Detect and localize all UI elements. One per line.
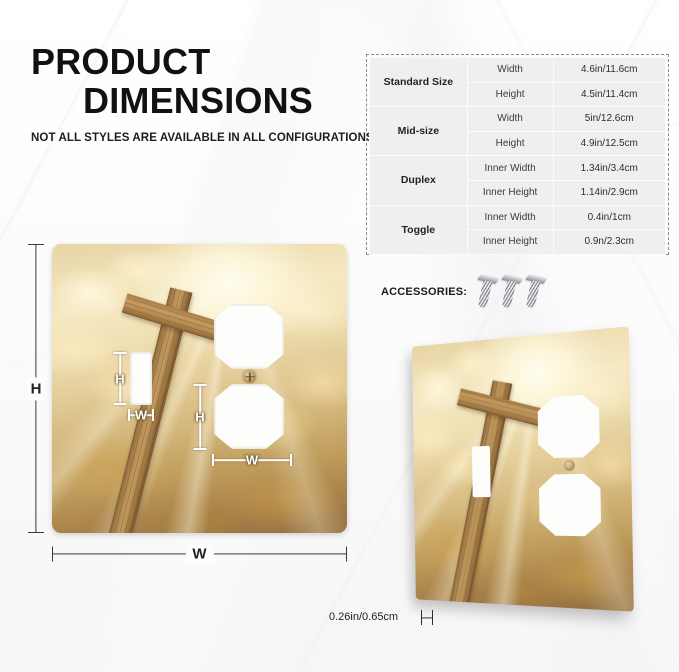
spec-value: 4.6in/11.6cm: [553, 58, 666, 83]
accessories-section: ACCESSORIES:: [381, 272, 545, 312]
spec-dim: Height: [467, 131, 553, 156]
duplex-height-label: H: [193, 408, 206, 427]
overall-height-marker: H: [27, 244, 45, 533]
spec-value: 1.14in/2.9cm: [553, 180, 666, 205]
overall-height-label: H: [29, 377, 44, 400]
spec-dim: Inner Width: [467, 156, 553, 181]
spec-label-midsize: Mid-size: [370, 107, 468, 156]
toggle-width-label: W: [131, 408, 151, 423]
toggle-width-marker: W: [128, 407, 154, 423]
toggle-height-label: H: [113, 369, 126, 388]
spec-label-toggle: Toggle: [370, 205, 468, 254]
page-title: PRODUCT DIMENSIONS NOT ALL STYLES ARE AV…: [31, 43, 374, 144]
spec-dim: Inner Width: [467, 205, 553, 230]
center-screw-hole: [243, 370, 256, 383]
thickness-label: 0.26in/0.65cm: [329, 611, 398, 623]
duplex-opening-top: [214, 304, 284, 369]
thickness-marker: [421, 610, 433, 625]
spec-table: Standard Size Width 4.6in/11.6cm Height …: [366, 54, 669, 255]
spec-label-standard: Standard Size: [370, 58, 468, 107]
accessories-label: ACCESSORIES:: [381, 286, 467, 298]
duplex-height-marker: H: [192, 384, 208, 450]
product-image-front: H W H W: [52, 244, 347, 533]
spec-table-body: Standard Size Width 4.6in/11.6cm Height …: [370, 58, 666, 255]
duplex-opening-bottom: [214, 384, 284, 449]
spec-value: 4.9in/12.5cm: [553, 131, 666, 156]
table-row: Mid-size Width 5in/12.6cm: [370, 107, 666, 132]
spec-value: 0.9n/2.3cm: [553, 230, 666, 255]
spec-value: 5in/12.6cm: [553, 107, 666, 132]
toggle-slot-opening: [130, 352, 152, 405]
table-row: Standard Size Width 4.6in/11.6cm: [370, 58, 666, 83]
duplex-width-marker: W: [212, 452, 292, 468]
spec-dim: Width: [467, 107, 553, 132]
page-subtitle: NOT ALL STYLES ARE AVAILABLE IN ALL CONF…: [31, 132, 374, 144]
product-image-angled: [400, 337, 632, 605]
overall-width-label: W: [185, 545, 213, 564]
table-row: Toggle Inner Width 0.4in/1cm: [370, 205, 666, 230]
duplex-opening-bottom: [539, 474, 601, 537]
spec-value: 4.5in/11.4cm: [553, 82, 666, 107]
spec-dim: Height: [467, 82, 553, 107]
title-line-product: PRODUCT: [31, 43, 374, 81]
toggle-height-marker: H: [112, 352, 128, 405]
spec-dim: Inner Height: [467, 180, 553, 205]
title-line-dimensions: DIMENSIONS: [31, 81, 374, 121]
spec-label-duplex: Duplex: [370, 156, 468, 205]
plate-artwork-cross-sky-angled: [412, 326, 634, 611]
duplex-opening-top: [537, 394, 599, 458]
overall-width-marker: W: [52, 545, 347, 563]
spec-dim: Inner Height: [467, 230, 553, 255]
spec-value: 0.4in/1cm: [553, 205, 666, 230]
spec-value: 1.34in/3.4cm: [553, 156, 666, 181]
toggle-slot-opening: [472, 446, 491, 497]
duplex-width-label: W: [242, 453, 262, 468]
spec-dim: Width: [467, 58, 553, 83]
table-row: Duplex Inner Width 1.34in/3.4cm: [370, 156, 666, 181]
screw-group: [473, 272, 545, 312]
